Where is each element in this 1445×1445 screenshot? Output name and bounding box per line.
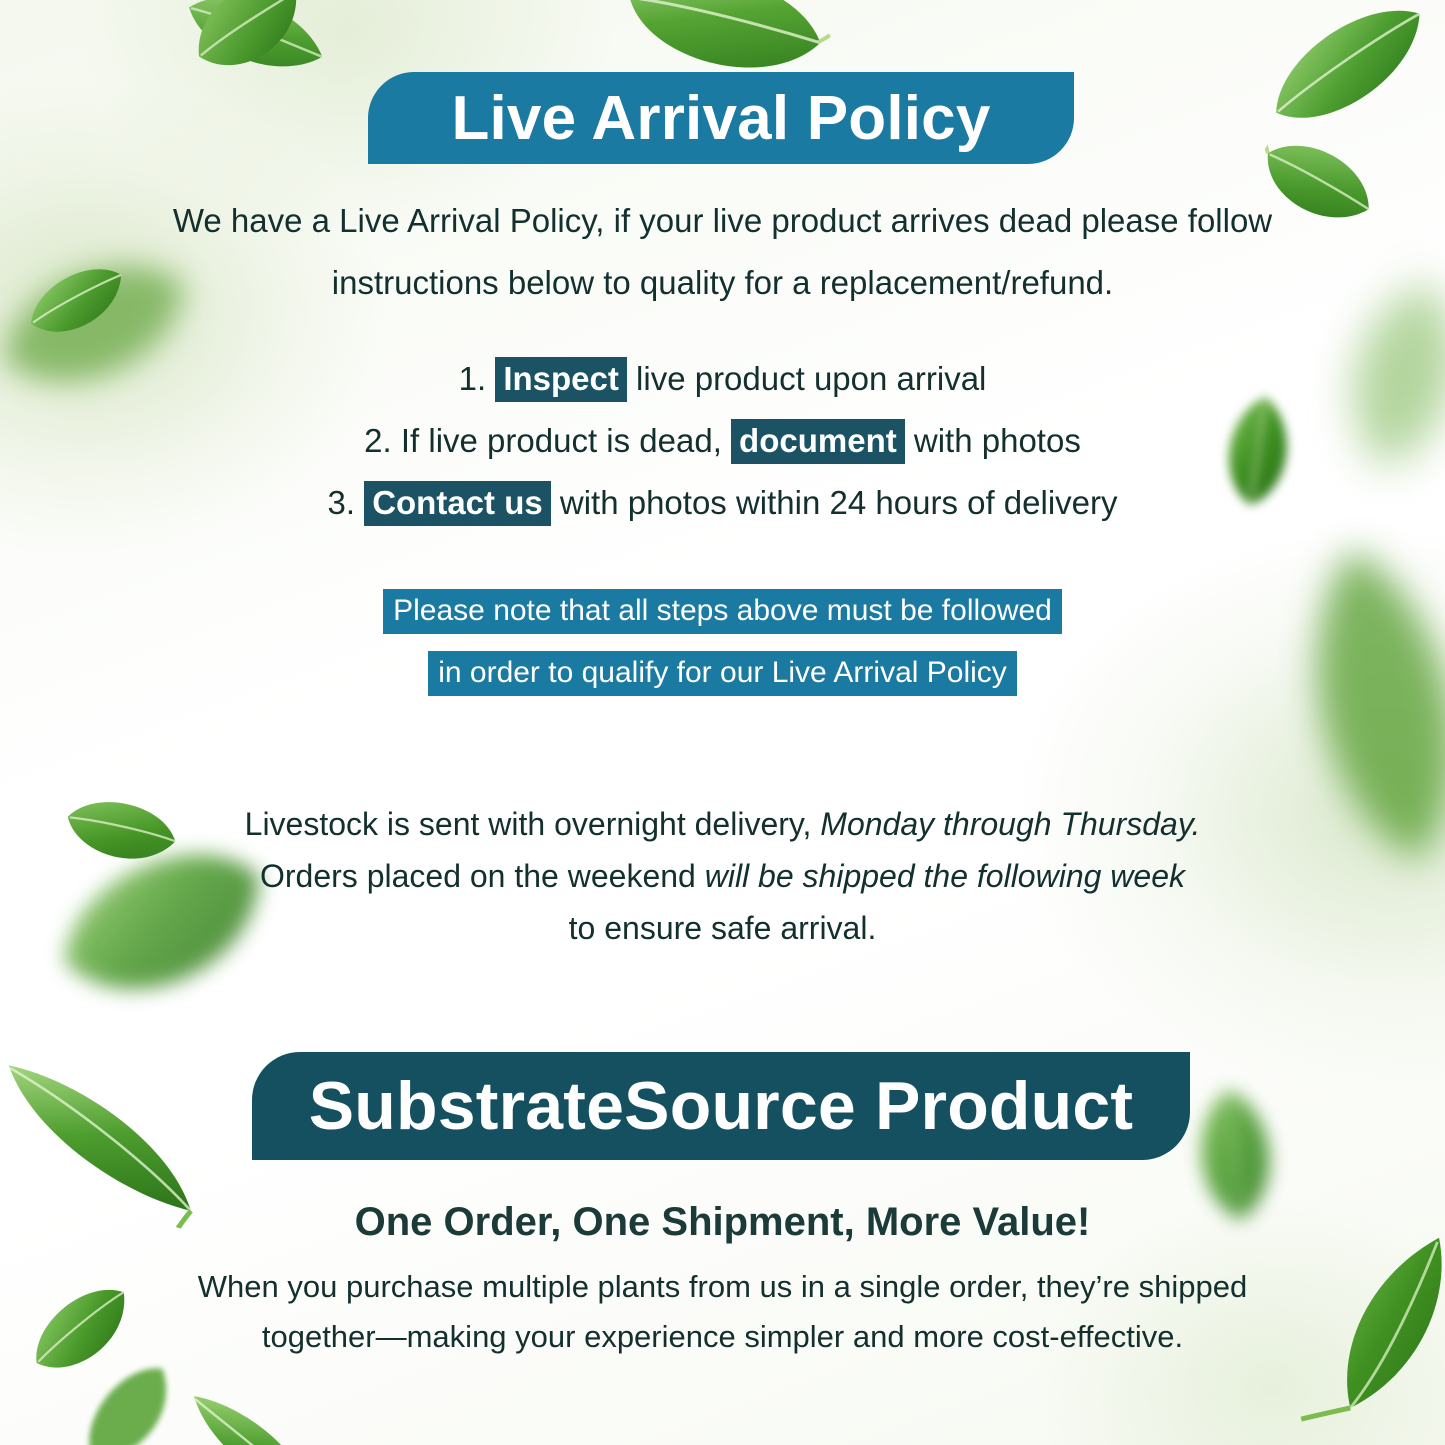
- policy-note-line-2: in order to qualify for our Live Arrival…: [428, 651, 1017, 696]
- intro-paragraph: We have a Live Arrival Policy, if your l…: [150, 190, 1295, 314]
- step-3-highlight: Contact us: [364, 481, 551, 526]
- live-arrival-policy-banner: Live Arrival Policy: [368, 72, 1074, 164]
- product-body-line-2: together—making your experience simpler …: [150, 1312, 1295, 1362]
- step-2-number: 2.: [364, 422, 392, 459]
- step-1-highlight: Inspect: [495, 357, 627, 402]
- shipping-line-3: to ensure safe arrival.: [150, 902, 1295, 954]
- step-item-2: 2. If live product is dead, document wit…: [150, 410, 1295, 472]
- shipping-line-1: Livestock is sent with overnight deliver…: [150, 798, 1295, 850]
- product-headline: One Order, One Shipment, More Value!: [150, 1196, 1295, 1248]
- intro-line-1: We have a Live Arrival Policy, if your l…: [150, 190, 1295, 252]
- substratesource-product-banner: SubstrateSource Product: [252, 1052, 1190, 1160]
- shipping-line-2-plain: Orders placed on the weekend: [260, 858, 696, 894]
- policy-note: Please note that all steps above must be…: [150, 580, 1295, 704]
- shipping-line-2-italic: will be shipped the following week: [705, 858, 1185, 894]
- product-body-line-1: When you purchase multiple plants from u…: [150, 1262, 1295, 1312]
- policy-note-line-2-wrap: in order to qualify for our Live Arrival…: [150, 642, 1295, 704]
- policy-note-line-1-wrap: Please note that all steps above must be…: [150, 580, 1295, 642]
- shipping-line-2: Orders placed on the weekend will be shi…: [150, 850, 1295, 902]
- policy-note-line-1: Please note that all steps above must be…: [383, 589, 1062, 634]
- shipping-paragraph: Livestock is sent with overnight deliver…: [150, 798, 1295, 954]
- step-3-number: 3.: [327, 484, 355, 521]
- shipping-line-1-plain: Livestock is sent with overnight deliver…: [245, 806, 812, 842]
- content-layer: Live Arrival Policy We have a Live Arriv…: [0, 0, 1445, 1445]
- shipping-line-1-italic: Monday through Thursday.: [820, 806, 1200, 842]
- intro-line-2: instructions below to quality for a repl…: [150, 252, 1295, 314]
- steps-list: 1. Inspect live product upon arrival 2. …: [150, 348, 1295, 534]
- step-2-after: with photos: [914, 422, 1081, 459]
- step-3-after: with photos within 24 hours of delivery: [560, 484, 1118, 521]
- live-arrival-policy-infographic: Live Arrival Policy We have a Live Arriv…: [0, 0, 1445, 1445]
- step-item-1: 1. Inspect live product upon arrival: [150, 348, 1295, 410]
- step-2-highlight: document: [731, 419, 905, 464]
- product-body: When you purchase multiple plants from u…: [150, 1262, 1295, 1362]
- step-2-before: If live product is dead,: [401, 422, 722, 459]
- step-item-3: 3. Contact us with photos within 24 hour…: [150, 472, 1295, 534]
- step-1-number: 1.: [459, 360, 487, 397]
- step-1-after: live product upon arrival: [636, 360, 986, 397]
